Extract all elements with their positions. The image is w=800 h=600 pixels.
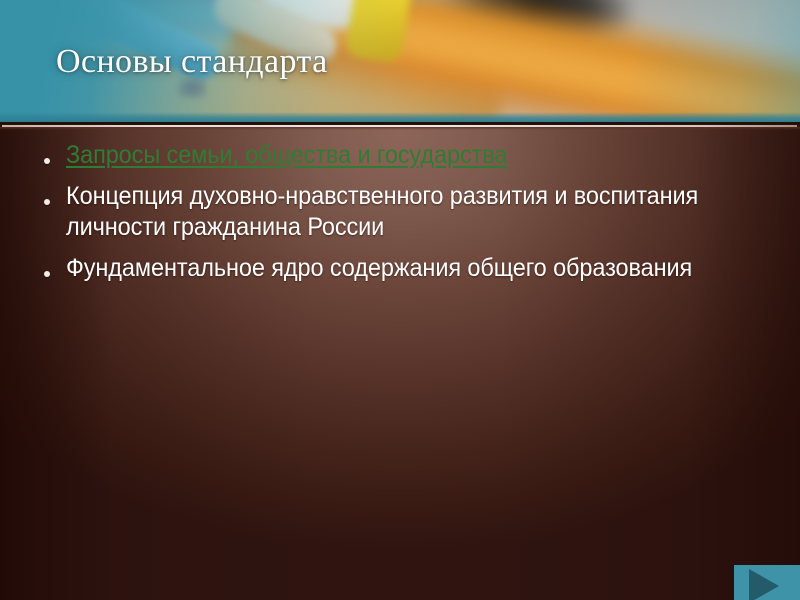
bullet-marker-icon — [44, 253, 66, 282]
bullet-marker-icon — [44, 140, 66, 169]
header-divider-shadow — [0, 127, 800, 130]
bullet-marker-icon — [44, 181, 66, 210]
bullet-text-core: Фундаментальное ядро содержания общего о… — [66, 253, 715, 284]
slide-body: Запросы семьи, общества и государства Ко… — [44, 140, 756, 294]
bullet-text-concept: Концепция духовно-нравственного развития… — [66, 181, 715, 243]
list-item: Запросы семьи, общества и государства — [44, 140, 756, 171]
list-item: Фундаментальное ядро содержания общего о… — [44, 253, 756, 284]
presentation-slide: Основы стандарта Запросы семьи, общества… — [0, 0, 800, 600]
next-slide-button[interactable] — [734, 565, 800, 600]
play-triangle-icon — [749, 569, 779, 600]
list-item: Концепция духовно-нравственного развития… — [44, 181, 756, 243]
header-teal-edge — [0, 112, 800, 122]
bullet-link-requests[interactable]: Запросы семьи, общества и государства — [66, 140, 715, 171]
page-title: Основы стандарта — [56, 40, 328, 84]
